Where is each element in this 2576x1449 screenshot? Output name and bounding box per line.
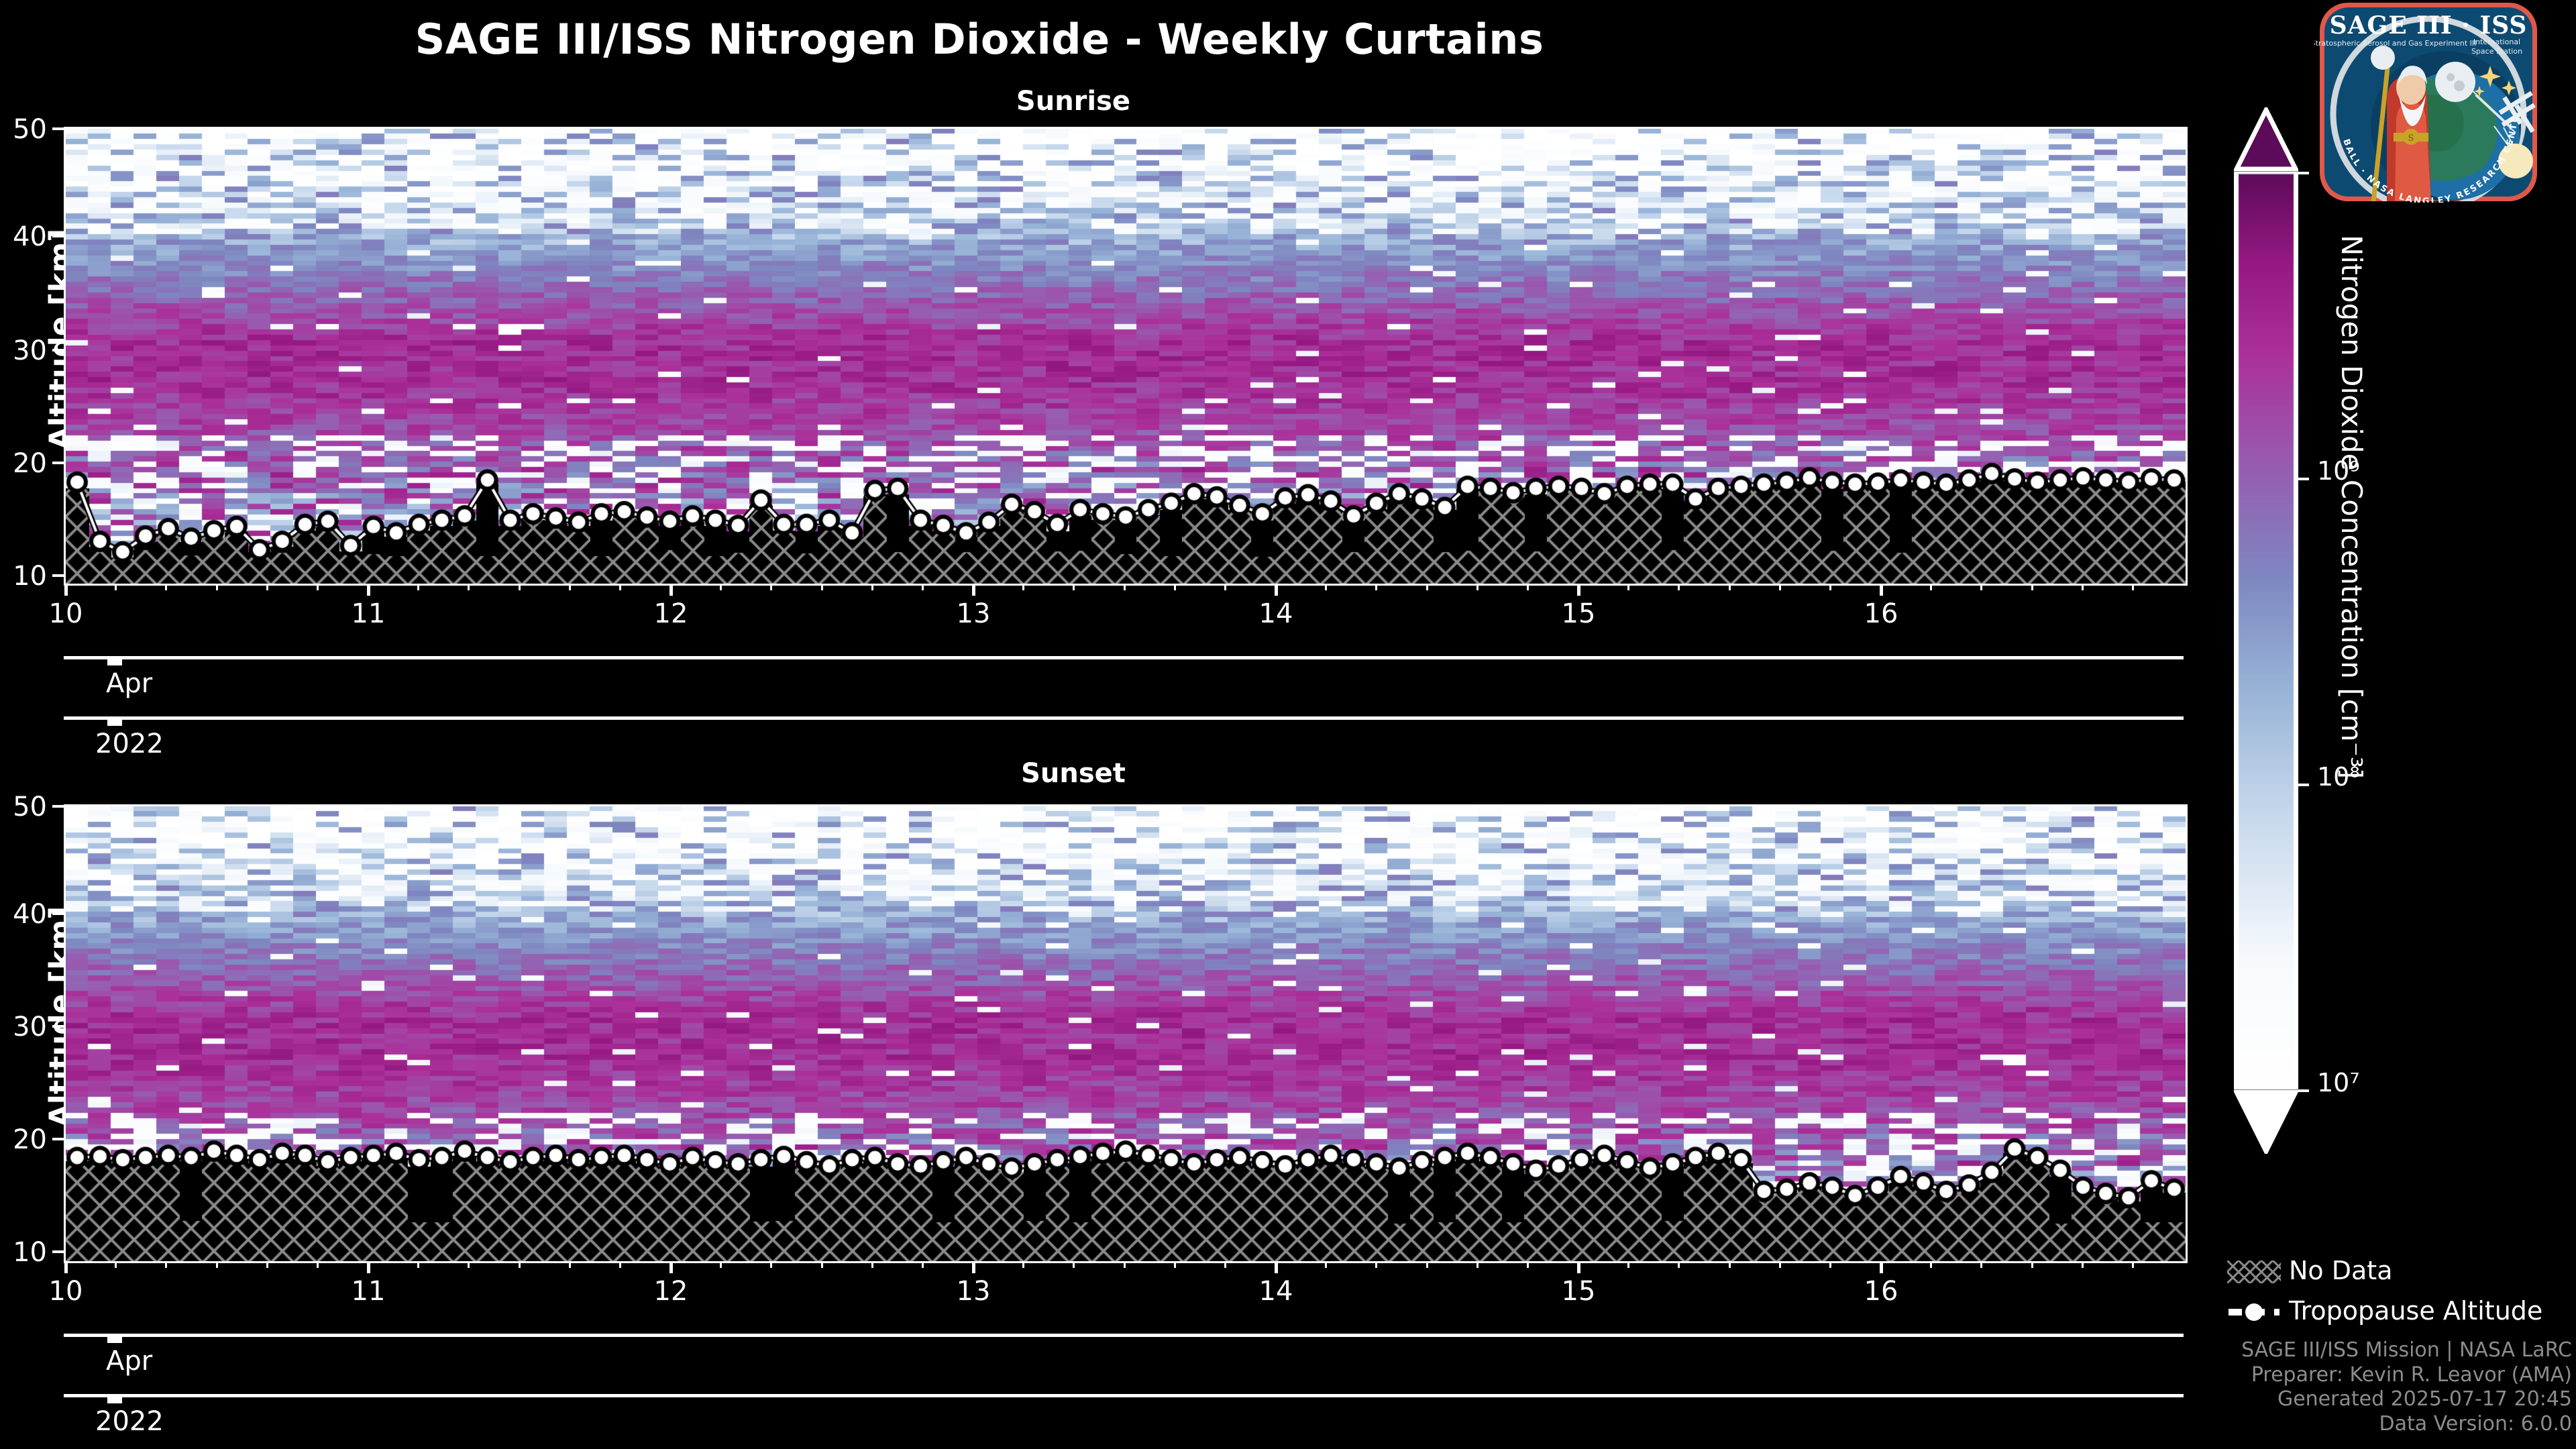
x-minor-tick xyxy=(165,1261,167,1268)
x-minor-tick xyxy=(1124,1261,1126,1268)
x-minor-tick xyxy=(1527,1261,1529,1268)
x-tick-13-sunrise: 13 xyxy=(933,598,1014,629)
x-tick-15-sunrise: 15 xyxy=(1538,598,1619,629)
x-minor-tick xyxy=(115,584,117,590)
page-title: SAGE III/ISS Nitrogen Dioxide - Weekly C… xyxy=(0,15,1959,64)
x-minor-tick xyxy=(1325,584,1327,590)
x-tick-15-sunset: 15 xyxy=(1538,1276,1619,1307)
y-tick-10-sunset: 10 xyxy=(0,1237,47,1268)
svg-text:S: S xyxy=(2408,133,2414,144)
x-minor-tick xyxy=(417,584,419,590)
x-minor-tick xyxy=(216,584,218,590)
legend-item-no-data: No Data xyxy=(2227,1260,2281,1289)
y-tick-40-sunset: 40 xyxy=(0,899,47,930)
x-minor-tick xyxy=(1477,1261,1479,1268)
x-tick-14-sunset: 14 xyxy=(1236,1276,1316,1307)
patch-subtitle-left: Stratospheric Aerosol and Gas Experiment… xyxy=(2314,39,2476,48)
footer-line-preparer: Preparer: Kevin R. Leavor (AMA) xyxy=(2241,1363,2572,1388)
legend-item-tropopause: Tropopause Altitude xyxy=(2227,1300,2281,1330)
heatmap-sunrise xyxy=(64,127,2188,586)
x-minor-tick xyxy=(115,1261,117,1268)
x-minor-tick xyxy=(216,1261,218,1268)
x-tick-16-sunset: 16 xyxy=(1841,1276,1921,1307)
x-minor-tick xyxy=(720,1261,722,1268)
month-label-sunset: Apr xyxy=(106,1346,152,1377)
footer-line-generated: Generated 2025-07-17 20:45 xyxy=(2241,1387,2572,1412)
x-minor-tick xyxy=(2132,1261,2134,1268)
y-tick-50-sunset: 50 xyxy=(0,792,47,822)
footer-line-mission: SAGE III/ISS Mission | NASA LaRC xyxy=(2241,1338,2572,1363)
x-minor-tick xyxy=(1779,584,1781,590)
y-tick-10-sunrise: 10 xyxy=(0,561,47,592)
x-minor-tick xyxy=(1375,1261,1377,1268)
y-tick-40-sunrise: 40 xyxy=(0,221,47,252)
x-minor-tick xyxy=(1224,584,1226,590)
x-minor-tick xyxy=(1678,1261,1680,1268)
x-minor-tick xyxy=(1980,584,1982,590)
x-tick-11-sunrise: 11 xyxy=(328,598,409,629)
x-minor-tick xyxy=(1930,584,1932,590)
legend-label-no-data: No Data xyxy=(2289,1256,2393,1285)
footer-credits: SAGE III/ISS Mission | NASA LaRC Prepare… xyxy=(2241,1338,2572,1436)
x-minor-tick xyxy=(821,1261,823,1268)
x-minor-tick xyxy=(417,1261,419,1268)
x-minor-tick xyxy=(1627,1261,1629,1268)
x-tick-14-sunrise: 14 xyxy=(1236,598,1316,629)
x-minor-tick xyxy=(1426,584,1428,590)
x-minor-tick xyxy=(1678,584,1680,590)
y-tick-30-sunset: 30 xyxy=(0,1012,47,1042)
year-label-sunrise: 2022 xyxy=(95,729,164,759)
x-minor-tick xyxy=(1729,584,1731,590)
colorbar-tick-1e7: 10⁷ xyxy=(2317,1068,2360,1097)
x-tick-12-sunset: 12 xyxy=(631,1276,711,1307)
y-tick-20-sunset: 20 xyxy=(0,1124,47,1155)
colorbar-axis-label: Nitrogen Dioxide Concentration [cm⁻³] xyxy=(2335,235,2368,779)
x-minor-tick xyxy=(468,584,470,590)
x-minor-tick xyxy=(2082,1261,2084,1268)
x-minor-tick xyxy=(1477,584,1479,590)
x-tick-13-sunset: 13 xyxy=(933,1276,1014,1307)
x-minor-tick xyxy=(1174,1261,1176,1268)
x-minor-tick xyxy=(1426,1261,1428,1268)
x-minor-tick xyxy=(1627,584,1629,590)
x-minor-tick xyxy=(922,584,924,590)
colorbar-arrow-bottom xyxy=(2234,1089,2298,1154)
x-tick-16-sunrise: 16 xyxy=(1841,598,1921,629)
heatmap-sunset xyxy=(64,804,2188,1263)
x-minor-tick xyxy=(619,1261,621,1268)
patch-title: SAGE III · ISS xyxy=(2330,11,2528,40)
x-minor-tick xyxy=(317,584,319,590)
x-minor-tick xyxy=(266,584,268,590)
x-minor-tick xyxy=(821,584,823,590)
x-minor-tick xyxy=(720,584,722,590)
x-minor-tick xyxy=(2082,584,2084,590)
patch-subtitle-right-2: Space Station xyxy=(2471,47,2522,56)
x-tick-11-sunset: 11 xyxy=(328,1276,409,1307)
colorbar-arrow-top xyxy=(2234,107,2298,172)
patch-subtitle-right-1: International xyxy=(2473,38,2520,46)
x-minor-tick xyxy=(266,1261,268,1268)
x-minor-tick xyxy=(2132,584,2134,590)
x-minor-tick xyxy=(1527,584,1529,590)
panel-title-sunset: Sunset xyxy=(0,758,2147,789)
x-minor-tick xyxy=(1174,584,1176,590)
panel-title-sunrise: Sunrise xyxy=(0,86,2147,117)
x-tick-10-sunrise: 10 xyxy=(25,598,106,629)
x-minor-tick xyxy=(317,1261,319,1268)
tropopause-line-icon xyxy=(2227,1301,2281,1324)
x-minor-tick xyxy=(619,584,621,590)
x-minor-tick xyxy=(1022,584,1024,590)
legend-label-tropopause: Tropopause Altitude xyxy=(2289,1296,2542,1326)
x-minor-tick xyxy=(569,584,571,590)
no-data-hatch-icon xyxy=(2227,1260,2281,1283)
x-minor-tick xyxy=(1073,1261,1075,1268)
x-minor-tick xyxy=(1224,1261,1226,1268)
x-minor-tick xyxy=(1829,1261,1831,1268)
x-minor-tick xyxy=(770,1261,772,1268)
x-minor-tick xyxy=(871,1261,873,1268)
x-tick-10-sunset: 10 xyxy=(25,1276,106,1307)
sage-iii-iss-mission-patch-logo: S SAGE III · ISS Stratospheric Aerosol a… xyxy=(2314,1,2542,203)
x-minor-tick xyxy=(519,584,521,590)
x-minor-tick xyxy=(2031,584,2033,590)
x-minor-tick xyxy=(165,584,167,590)
x-minor-tick xyxy=(1124,584,1126,590)
x-minor-tick xyxy=(1980,1261,1982,1268)
footer-line-version: Data Version: 6.0.0 xyxy=(2241,1412,2572,1437)
x-minor-tick xyxy=(2031,1261,2033,1268)
y-tick-30-sunrise: 30 xyxy=(0,335,47,366)
x-minor-tick xyxy=(1375,584,1377,590)
year-label-sunset: 2022 xyxy=(95,1406,164,1437)
x-minor-tick xyxy=(922,1261,924,1268)
x-minor-tick xyxy=(1073,584,1075,590)
x-minor-tick xyxy=(1779,1261,1781,1268)
y-tick-20-sunrise: 20 xyxy=(0,448,47,479)
colorbar: 10¹⁰ 10⁹ 10⁸ 10⁷ xyxy=(2226,107,2306,1154)
x-minor-tick xyxy=(468,1261,470,1268)
x-minor-tick xyxy=(1930,1261,1932,1268)
colorbar-gradient xyxy=(2234,172,2298,1089)
x-minor-tick xyxy=(1022,1261,1024,1268)
y-tick-50-sunrise: 50 xyxy=(0,114,47,145)
x-tick-12-sunrise: 12 xyxy=(631,598,711,629)
x-minor-tick xyxy=(569,1261,571,1268)
x-minor-tick xyxy=(871,584,873,590)
x-minor-tick xyxy=(770,584,772,590)
x-minor-tick xyxy=(1829,584,1831,590)
x-minor-tick xyxy=(1729,1261,1731,1268)
x-minor-tick xyxy=(519,1261,521,1268)
x-minor-tick xyxy=(1325,1261,1327,1268)
month-label-sunrise: Apr xyxy=(106,668,152,699)
